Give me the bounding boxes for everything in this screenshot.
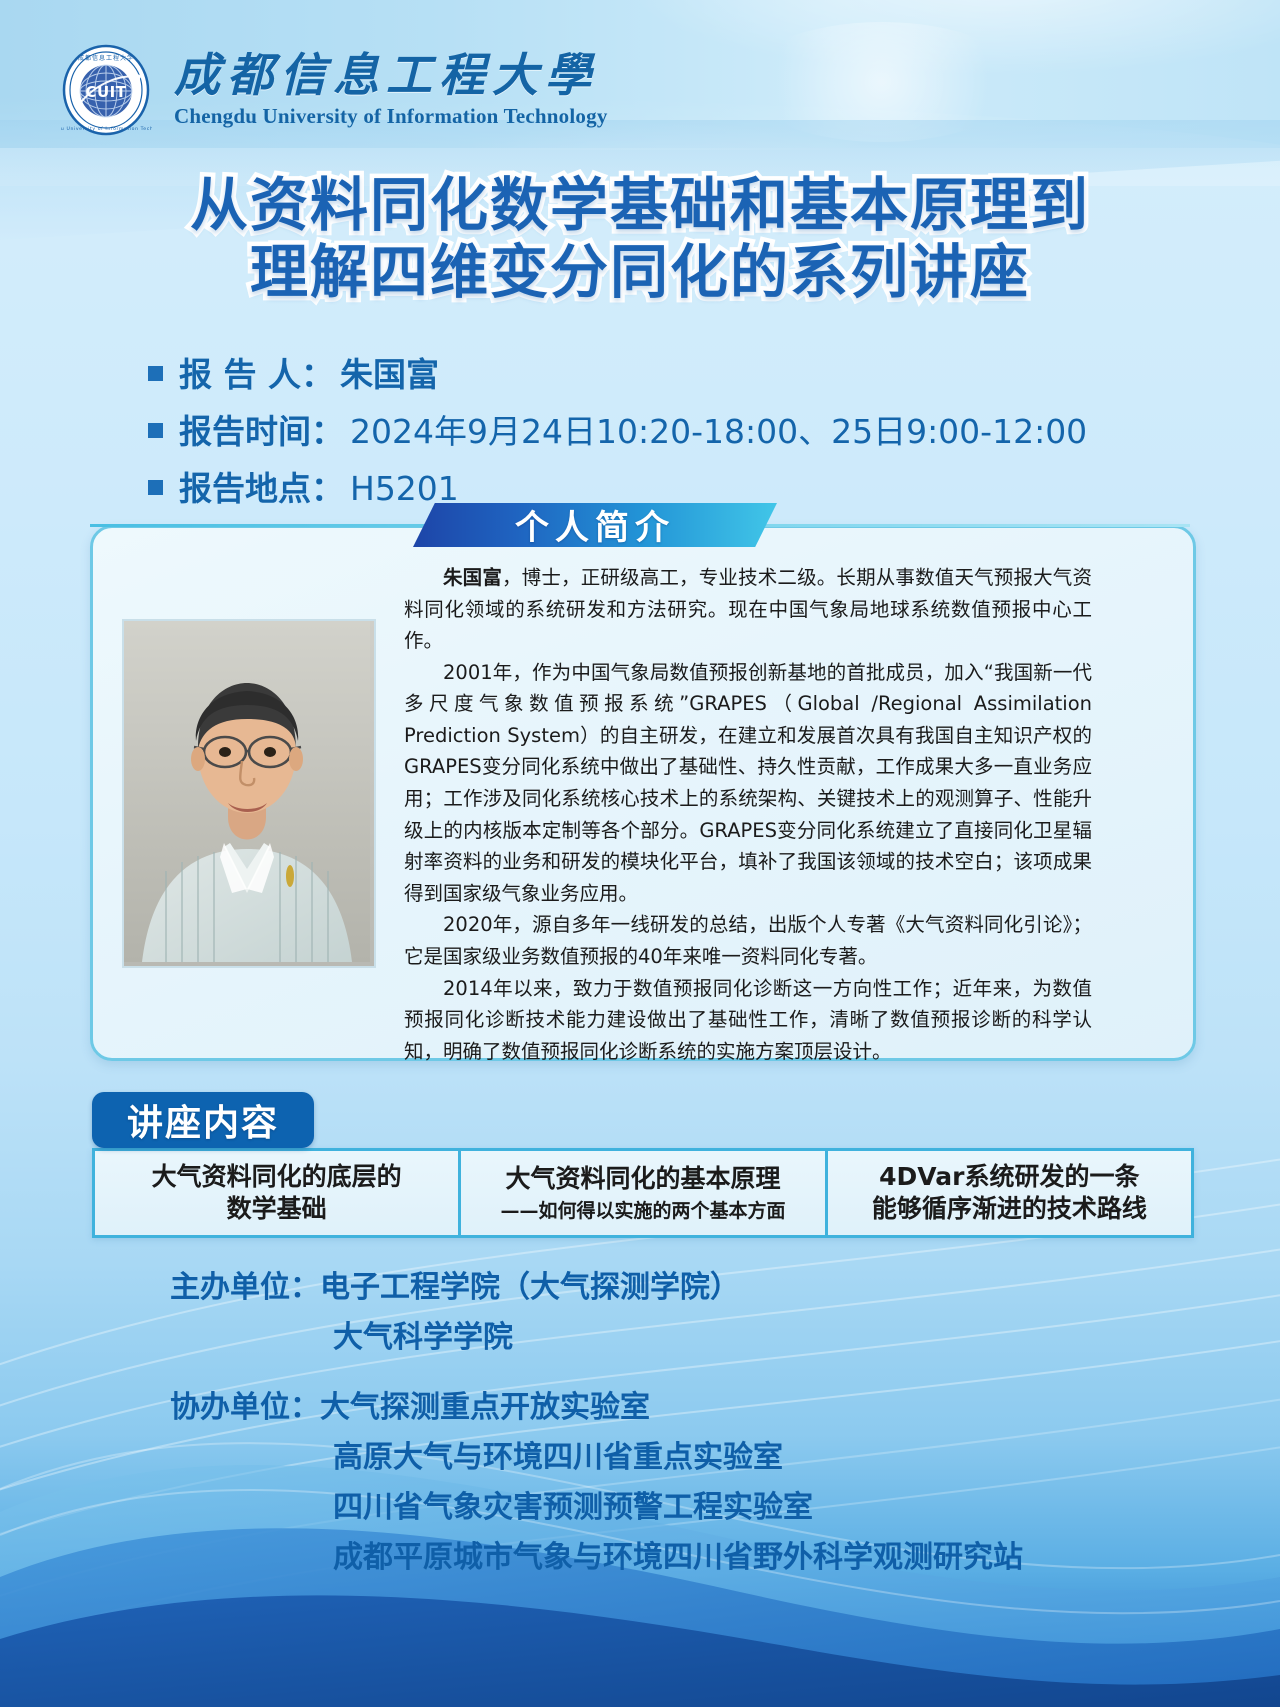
co-item-2: 高原大气与环境四川省重点实验室: [333, 1432, 783, 1476]
square-bullet-icon: [148, 366, 163, 381]
co-label: 协办单位：: [170, 1382, 320, 1426]
host-row-2: 大气科学学院: [333, 1312, 1170, 1356]
speaker-portrait: [122, 619, 376, 968]
university-name-en: Chengdu University of Information Techno…: [174, 104, 608, 129]
co-item-1: 大气探测重点开放实验室: [320, 1382, 650, 1426]
info-row-speaker: 报 告 人： 朱国富: [148, 348, 1148, 396]
lecture-item-1-line2: 数学基础: [227, 1193, 327, 1226]
host-item-2: 大气科学学院: [333, 1312, 513, 1356]
co-item-4: 成都平原城市气象与环境四川省野外科学观测研究站: [333, 1532, 1023, 1576]
university-branding: CUIT 成都信息工程大学 Chengdu University of Info…: [60, 44, 608, 136]
info-row-time: 报告时间： 2024年9月24日10:20-18:00、25日9:00-12:0…: [148, 405, 1148, 453]
svg-text:Chengdu University of Informat: Chengdu University of Information Techno…: [60, 126, 152, 132]
host-group: 主办单位： 电子工程学院（大气探测学院） 大气科学学院: [170, 1262, 1170, 1356]
svg-text:成都信息工程大学: 成都信息工程大学: [78, 54, 134, 62]
lecture-item-2: 大气资料同化的基本原理 ——如何得以实施的两个基本方面: [458, 1151, 824, 1235]
organizers-section: 主办单位： 电子工程学院（大气探测学院） 大气科学学院 协办单位： 大气探测重点…: [170, 1262, 1170, 1602]
lecture-item-3: 4DVar系统研发的一条 能够循序渐进的技术路线: [825, 1151, 1191, 1235]
co-row-1: 协办单位： 大气探测重点开放实验室: [170, 1382, 1170, 1426]
bio-paragraph-3: 2020年，源自多年一线研发的总结，出版个人专著《大气资料同化引论》；它是国家级…: [404, 909, 1092, 972]
host-label: 主办单位：: [170, 1262, 320, 1306]
bio-text: 朱国富，博士，正研级高工，专业技术二级。长期从事数值天气预报大气资料同化领域的系…: [404, 562, 1092, 1067]
location-label: 报告地点：: [179, 462, 344, 510]
lecture-content-tab-label: 讲座内容: [127, 1094, 279, 1146]
co-row-2: 高原大气与环境四川省重点实验室: [333, 1432, 1170, 1476]
lecture-item-3-line2: 能够循序渐进的技术路线: [872, 1193, 1147, 1226]
university-name-block: 成都信息工程大學 Chengdu University of Informati…: [174, 51, 608, 129]
co-item-3: 四川省气象灾害预测预警工程实验室: [333, 1482, 813, 1526]
speaker-label: 报 告 人：: [179, 348, 334, 396]
lecture-item-3-line1: 4DVar系统研发的一条: [879, 1161, 1139, 1194]
title-line-2: 理解四维变分同化的系列讲座: [0, 239, 1280, 306]
square-bullet-icon: [148, 480, 163, 495]
co-organizer-group: 协办单位： 大气探测重点开放实验室 高原大气与环境四川省重点实验室 四川省气象灾…: [170, 1382, 1170, 1576]
title-line-1: 从资料同化数学基础和基本原理到: [0, 172, 1280, 239]
cuit-seal-icon: CUIT 成都信息工程大学 Chengdu University of Info…: [60, 44, 152, 136]
lecture-content-box: 大气资料同化的底层的 数学基础 大气资料同化的基本原理 ——如何得以实施的两个基…: [92, 1148, 1194, 1238]
time-value: 2024年9月24日10:20-18:00、25日9:00-12:00: [350, 405, 1087, 453]
lecture-item-2-line1: 大气资料同化的基本原理: [505, 1163, 780, 1196]
university-name-cn: 成都信息工程大學: [174, 51, 608, 101]
co-row-4: 成都平原城市气象与环境四川省野外科学观测研究站: [333, 1532, 1170, 1576]
svg-text:CUIT: CUIT: [85, 83, 126, 101]
lecture-item-1: 大气资料同化的底层的 数学基础: [95, 1151, 458, 1235]
bio-paragraph-1: 朱国富，博士，正研级高工，专业技术二级。长期从事数值天气预报大气资料同化领域的系…: [404, 562, 1092, 657]
lecture-item-2-sub: ——如何得以实施的两个基本方面: [500, 1196, 785, 1223]
event-info: 报 告 人： 朱国富 报告时间： 2024年9月24日10:20-18:00、2…: [148, 348, 1148, 519]
poster-header: CUIT 成都信息工程大学 Chengdu University of Info…: [0, 0, 1280, 150]
speaker-value: 朱国富: [340, 348, 439, 396]
host-row-1: 主办单位： 电子工程学院（大气探测学院）: [170, 1262, 1170, 1306]
bio-paragraph-4: 2014年以来，致力于数值预报同化诊断这一方向性工作；近年来，为数值预报同化诊断…: [404, 973, 1092, 1068]
host-item-1: 电子工程学院（大气探测学院）: [320, 1262, 740, 1306]
speaker-name-bold: 朱国富: [443, 566, 502, 589]
lecture-content-tab: 讲座内容: [92, 1092, 314, 1148]
bio-paragraph-1-rest: ，博士，正研级高工，专业技术二级。长期从事数值天气预报大气资料同化领域的系统研发…: [404, 566, 1092, 652]
square-bullet-icon: [148, 423, 163, 438]
page-title: 从资料同化数学基础和基本原理到 理解四维变分同化的系列讲座: [0, 172, 1280, 307]
time-label: 报告时间：: [179, 405, 344, 453]
co-row-3: 四川省气象灾害预测预警工程实验室: [333, 1482, 1170, 1526]
lecture-item-1-line1: 大气资料同化的底层的: [152, 1161, 402, 1194]
bio-banner-title: 个人简介: [413, 501, 777, 547]
bio-paragraph-2: 2001年，作为中国气象局数值预报创新基地的首批成员，加入“我国新一代多尺度气象…: [404, 657, 1092, 910]
